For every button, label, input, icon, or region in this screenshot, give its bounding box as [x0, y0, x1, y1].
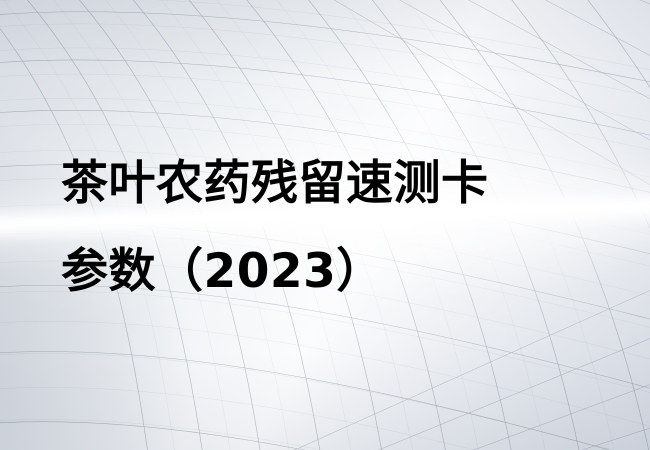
product-title-banner: 茶叶农药残留速测卡 参数（2023） — [0, 0, 650, 450]
title-line-secondary: 参数（2023） — [61, 228, 621, 316]
title-line-primary: 茶叶农药残留速测卡 — [61, 140, 621, 228]
page-title: 茶叶农药残留速测卡 参数（2023） — [61, 140, 621, 316]
